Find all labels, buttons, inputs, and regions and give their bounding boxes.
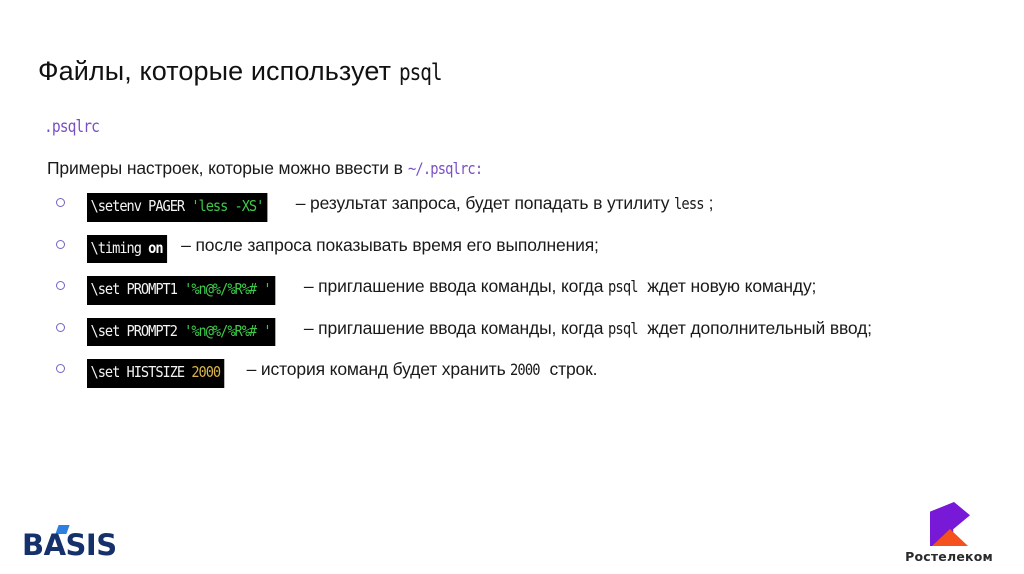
code-value: on	[148, 239, 162, 257]
list-item-description-end: ждет новую команду;	[643, 276, 817, 296]
settings-bullet-list: \setenv PAGER 'less -XS' – результат зап…	[56, 190, 916, 398]
lead-path-psqlrc: ~/.psqlrc:	[408, 159, 482, 178]
slide-root: Файлы, которые использует psql .psqlrc П…	[0, 0, 1024, 574]
basis-logo: BASIS	[22, 524, 142, 562]
list-item-body: \set HISTSIZE 2000 – история команд буде…	[87, 356, 916, 388]
list-item-description: – результат запроса, будет попадать в ут…	[291, 193, 674, 213]
list-item-description-end: строк.	[545, 359, 598, 379]
rostelecom-logo: Ростелеком	[896, 502, 1002, 564]
page-title: Файлы, которые использует psql	[38, 56, 449, 87]
inline-mono-term: psql	[608, 275, 638, 299]
list-item-description-end: ждет дополнительный ввод;	[643, 318, 872, 338]
code-value: 'less -XS'	[191, 197, 263, 215]
list-item-body: \set PROMPT1 '%n@%/%R%# ' – приглашение …	[87, 273, 916, 305]
list-item-body: \timing on – после запроса показывать вр…	[87, 232, 916, 264]
list-item: \set PROMPT2 '%n@%/%R%# ' – приглашение …	[56, 315, 916, 347]
code-keyword: \set PROMPT1	[91, 280, 185, 298]
page-title-text: Файлы, которые использует	[38, 56, 399, 86]
inline-mono-term: less	[674, 192, 704, 216]
code-keyword: \set HISTSIZE	[91, 363, 192, 381]
code-keyword: \timing	[91, 239, 149, 257]
bullet-circle-icon	[56, 281, 65, 290]
inline-mono-term: 2000	[510, 358, 540, 382]
lead-paragraph: Примеры настроек, которые можно ввести в…	[47, 158, 494, 179]
page-title-mono-psql: psql	[399, 60, 441, 86]
list-item: \set HISTSIZE 2000 – история команд буде…	[56, 356, 916, 388]
list-item-description: – приглашение ввода команды, когда	[299, 276, 608, 296]
code-chip: \set PROMPT1 '%n@%/%R%# '	[87, 276, 275, 305]
bullet-circle-icon	[56, 364, 65, 373]
list-item-body: \setenv PAGER 'less -XS' – результат зап…	[87, 190, 916, 222]
code-value: 2000	[191, 363, 220, 381]
list-item: \setenv PAGER 'less -XS' – результат зап…	[56, 190, 916, 222]
rostelecom-wordmark: Ростелеком	[896, 549, 1002, 564]
list-item-description: – приглашение ввода команды, когда	[299, 318, 608, 338]
lead-text: Примеры настроек, которые можно ввести в	[47, 158, 408, 178]
bullet-circle-icon	[56, 240, 65, 249]
inline-mono-term: psql	[608, 317, 638, 341]
code-chip: \timing on	[87, 235, 167, 264]
basis-wordmark: BASIS	[22, 531, 117, 560]
code-keyword: \setenv PAGER	[91, 197, 192, 215]
code-keyword: \set PROMPT2	[91, 322, 185, 340]
slide-subtitle: .psqlrc	[44, 117, 99, 137]
code-value: '%n@%/%R%# '	[184, 280, 270, 298]
list-item: \timing on – после запроса показывать вр…	[56, 232, 916, 264]
list-item-description: – после запроса показывать время его вып…	[176, 235, 598, 255]
list-item-description: – история команд будет хранить	[242, 359, 510, 379]
code-chip: \setenv PAGER 'less -XS'	[87, 193, 268, 222]
code-chip: \set PROMPT2 '%n@%/%R%# '	[87, 318, 275, 347]
bullet-circle-icon	[56, 323, 65, 332]
bullet-circle-icon	[56, 198, 65, 207]
rostelecom-mark-icon	[930, 502, 970, 546]
list-item-body: \set PROMPT2 '%n@%/%R%# ' – приглашение …	[87, 315, 916, 347]
list-item: \set PROMPT1 '%n@%/%R%# ' – приглашение …	[56, 273, 916, 305]
code-value: '%n@%/%R%# '	[184, 322, 270, 340]
list-item-description-end: ;	[709, 193, 714, 213]
code-chip: \set HISTSIZE 2000	[87, 359, 225, 388]
